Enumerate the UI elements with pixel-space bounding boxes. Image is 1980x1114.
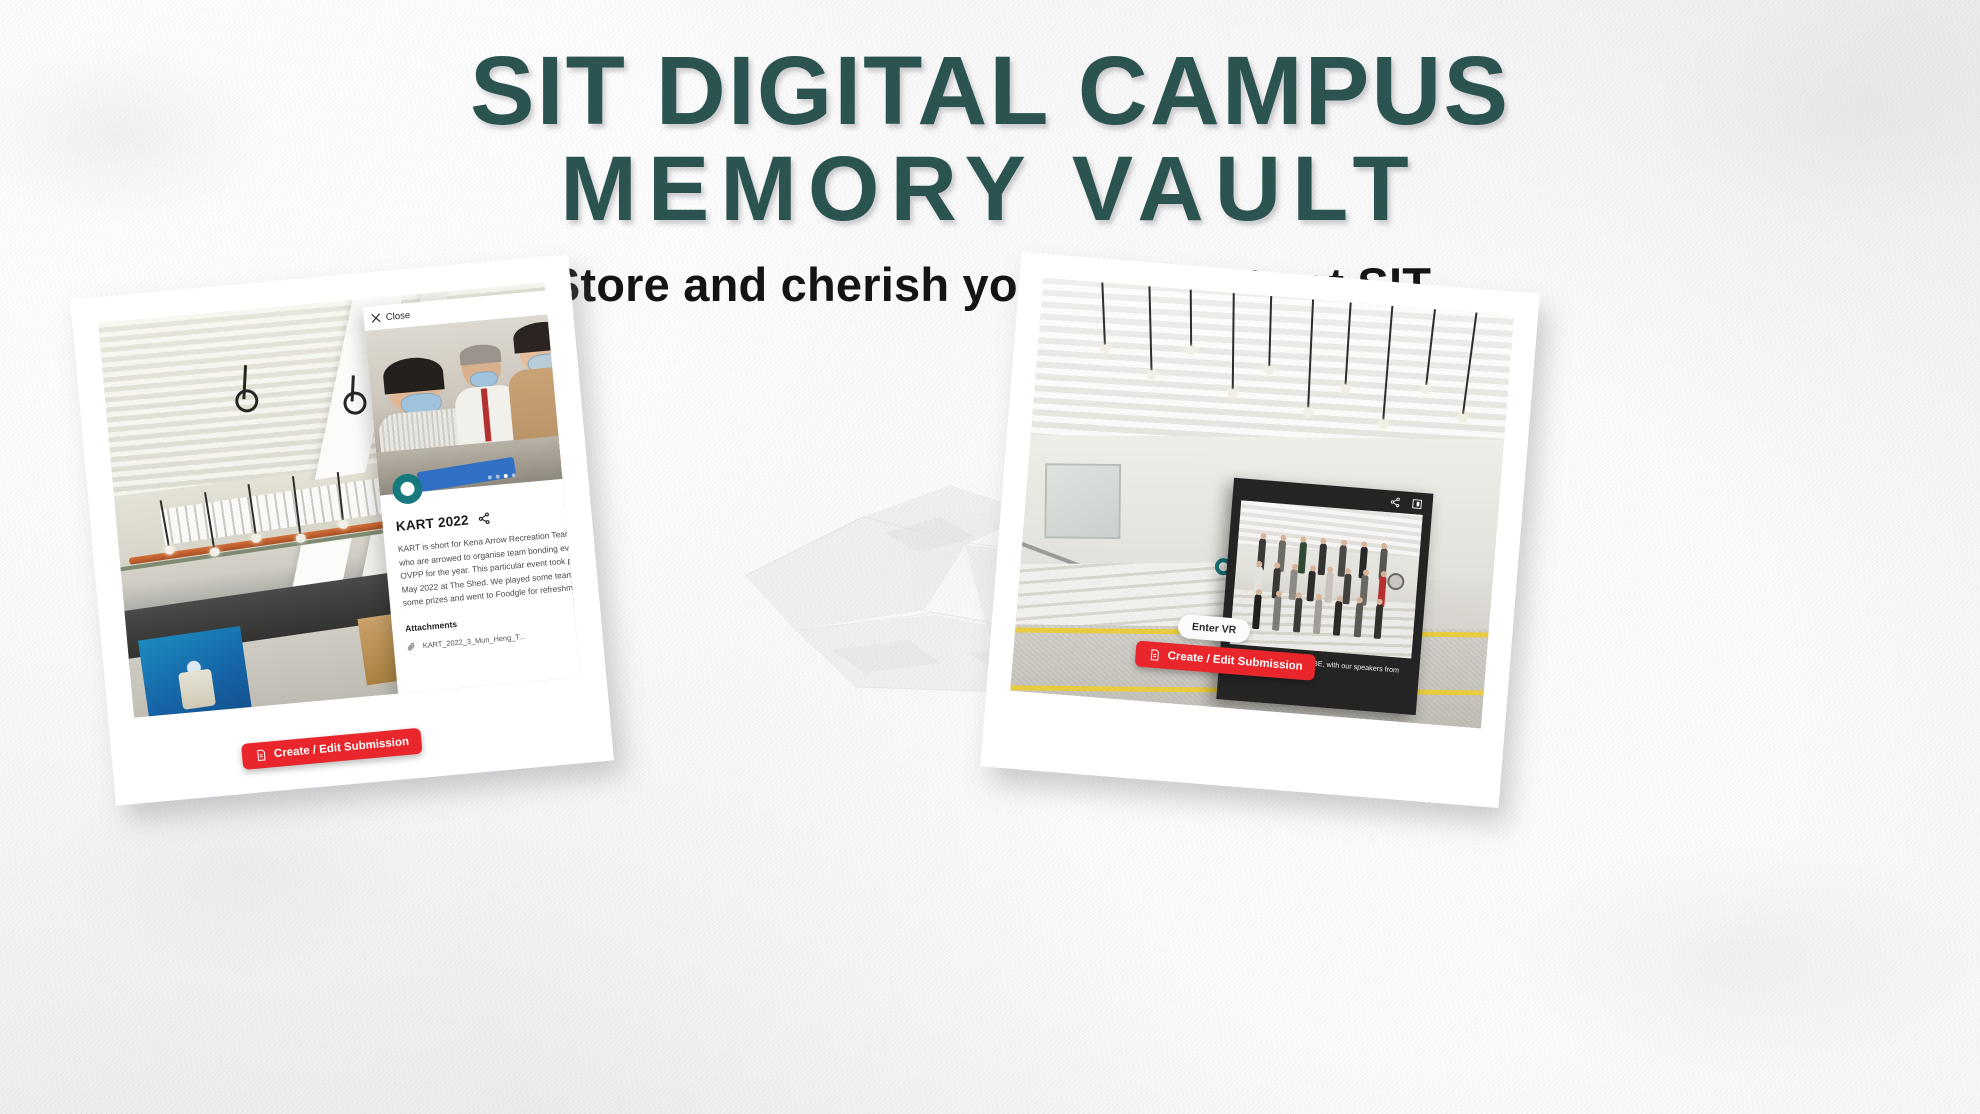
prev-arrow-icon[interactable]: ‹ [547,296,553,309]
close-button[interactable]: Close [370,309,410,324]
close-icon [370,313,381,324]
person-hair [512,319,573,353]
submission-detail-panel[interactable]: Close ‹ 3 of 5 › [363,285,580,718]
document-icon [255,749,268,762]
group-of-people [1246,536,1395,639]
page-background: SIT DIGITAL CAMPUS MEMORY VAULT Store an… [0,0,1980,1114]
document-icon [1148,648,1161,661]
enter-vr-label: Enter VR [1192,621,1237,637]
attachment-filename: KART_2022_3_Mun_Heng_T... [422,632,525,650]
submit-label: Create / Edit Submission [273,736,409,760]
carousel-dot-active[interactable] [504,474,508,478]
carousel-dot[interactable] [496,474,500,478]
stairwell-window [1044,463,1120,538]
fullscreen-icon[interactable] [1411,498,1423,510]
hero-heading-block: SIT DIGITAL CAMPUS MEMORY VAULT Store an… [0,44,1980,312]
person-figure [1293,597,1303,632]
close-label: Close [385,309,410,322]
person-figure [1333,600,1343,635]
carousel-dot[interactable] [512,473,516,477]
group-photo [1230,500,1423,658]
stairwell-vr-photo[interactable]: First workshop in SIT on CBE, with our s… [1010,278,1514,729]
person-figure [1313,598,1323,633]
wall-mural [138,626,252,718]
share-icon[interactable] [477,512,491,526]
create-edit-submission-button-left[interactable]: Create / Edit Submission [241,728,423,770]
hall-photo: Close ‹ 3 of 5 › [98,283,580,718]
memory-card-right[interactable]: First workshop in SIT on CBE, with our s… [980,252,1540,808]
share-icon[interactable] [1389,496,1401,508]
person-figure [1373,603,1383,638]
vr-photo-popup[interactable]: First workshop in SIT on CBE, with our s… [1216,478,1433,715]
person-hair [382,355,445,394]
person-figure [1272,595,1282,630]
entry-body: KART 2022 KART is short for Kena Arrow R… [380,473,580,653]
entry-hero-photo [365,309,580,496]
page-title-line-2: MEMORY VAULT [0,143,1980,237]
person-figure [1252,594,1262,629]
popup-toolbar [1389,496,1423,510]
entry-description: KART is short for Kena Arrow Recreation … [397,523,580,611]
person-figure [1353,602,1363,637]
page-title-line-1: SIT DIGITAL CAMPUS [0,44,1980,137]
person-hair [459,343,502,365]
submit-label: Create / Edit Submission [1167,650,1303,673]
paperclip-icon [406,642,416,652]
memory-card-left[interactable]: Close ‹ 3 of 5 › [70,254,614,805]
entry-title: KART 2022 [395,513,469,535]
attachment-filesize: 12.3MB [578,625,580,636]
carousel-dot[interactable] [488,475,492,479]
stairwell-ceiling [1010,278,1514,449]
